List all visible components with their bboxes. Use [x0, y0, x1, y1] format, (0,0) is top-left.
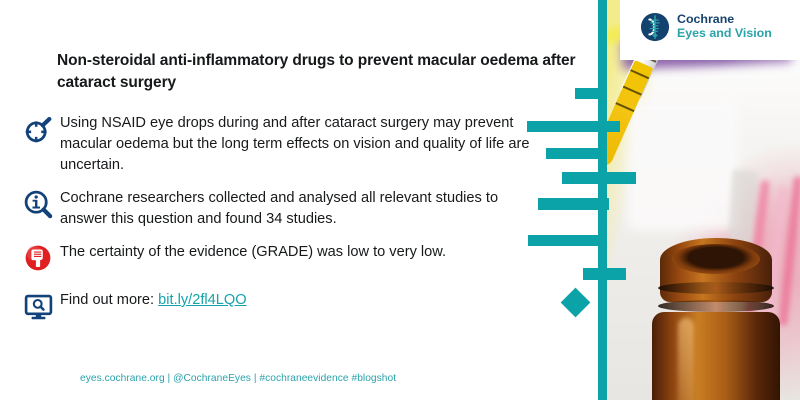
monitor-search-icon: [16, 289, 60, 331]
amber-bottle: [652, 238, 784, 400]
logo-line-eyes-and-vision: Eyes and Vision: [677, 27, 772, 41]
logo-line-cochrane: Cochrane: [677, 13, 772, 27]
bullet-list: Using NSAID eye drops during and after c…: [16, 112, 546, 331]
target-crosshair-icon: [16, 112, 60, 154]
bottle-ring: [658, 282, 774, 294]
forest-plot-summary-diamond: [560, 287, 590, 317]
bottle-highlight: [678, 318, 694, 400]
pipette-tip: [600, 155, 608, 192]
page-title: Non-steroidal anti-inflammatory drugs to…: [57, 50, 597, 94]
find-out-more-link[interactable]: bit.ly/2fl4LQO: [158, 292, 246, 308]
bottle-ring: [658, 300, 774, 312]
logo-wordmark: Cochrane Eyes and Vision: [677, 13, 772, 41]
list-item-text: Cochrane researchers collected and analy…: [60, 187, 546, 230]
cochrane-circle-logo-icon: [640, 12, 670, 42]
dropper-bottle-photo: [600, 0, 800, 400]
forest-plot-study-bar: [546, 148, 607, 159]
find-out-more-label: Find out more:: [60, 292, 158, 308]
bottle-body: [652, 312, 780, 400]
photo-white-blur: [628, 100, 738, 230]
footer-credits: eyes.cochrane.org | @CochraneEyes | #coc…: [80, 373, 396, 384]
thumbs-down-icon: [16, 241, 60, 283]
list-item: Find out more: bit.ly/2fl4LQO: [16, 289, 546, 331]
list-item: Using NSAID eye drops during and after c…: [16, 112, 546, 176]
list-item-text: Using NSAID eye drops during and after c…: [60, 112, 546, 176]
bottle-mouth: [672, 244, 760, 274]
cochrane-eyes-and-vision-logo: Cochrane Eyes and Vision: [640, 12, 772, 42]
list-item-text: Find out more: bit.ly/2fl4LQO: [60, 289, 546, 311]
list-item: Cochrane researchers collected and analy…: [16, 187, 546, 230]
blogshot-canvas: Cochrane Eyes and Vision Non-steroidal a…: [0, 0, 800, 400]
list-item: The certainty of the evidence (GRADE) wa…: [16, 241, 546, 283]
info-magnifier-icon: [16, 187, 60, 229]
forest-plot-study-bar: [538, 198, 609, 210]
list-item-text: The certainty of the evidence (GRADE) wa…: [60, 241, 546, 263]
